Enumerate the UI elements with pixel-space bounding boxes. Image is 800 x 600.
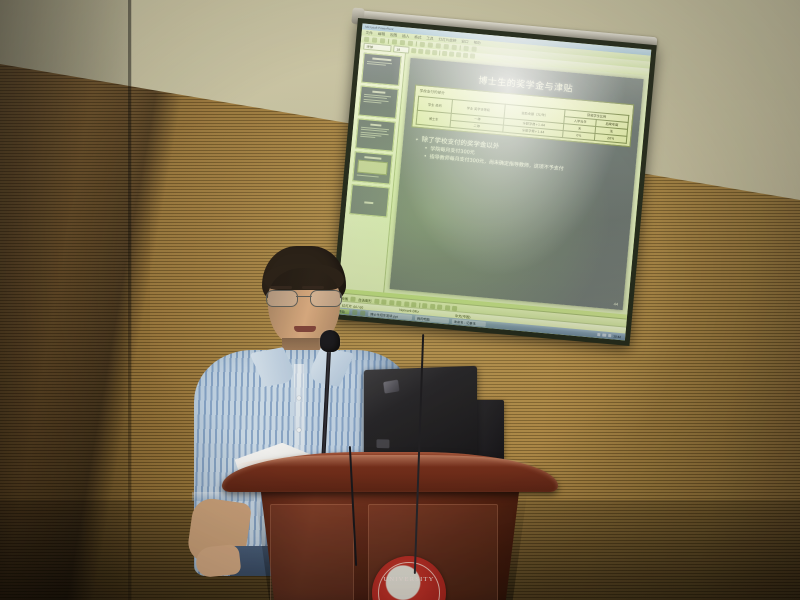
bold-icon[interactable] — [411, 48, 416, 53]
shadow-icon[interactable] — [432, 50, 437, 55]
photo-scene: Microsoft PowerPoint 文件 编辑 视图 插入 格式 工具 幻… — [0, 0, 800, 600]
lens-left — [266, 290, 298, 307]
eyebrow-left — [270, 286, 292, 289]
preview-icon[interactable] — [400, 40, 405, 45]
shirt-button — [297, 428, 301, 432]
align-center-icon[interactable] — [449, 51, 454, 56]
bullets-icon[interactable] — [463, 53, 468, 58]
slide-thumbnail[interactable] — [361, 53, 402, 86]
slide-number: 44 — [613, 301, 618, 306]
laptop-logo — [383, 380, 399, 394]
toolbar-separator — [459, 45, 460, 50]
taskbar-clock: 10:42 — [613, 334, 621, 339]
menu-format[interactable]: 格式 — [414, 35, 422, 41]
slide-thumbnail-current[interactable] — [352, 151, 393, 184]
table-cell-first-year: 0% — [563, 131, 595, 141]
network-icon[interactable] — [602, 333, 606, 337]
new-icon[interactable] — [364, 37, 369, 42]
insert-table-icon[interactable] — [463, 46, 468, 51]
copy-icon[interactable] — [428, 42, 433, 47]
taskbar-item-notepad[interactable]: 未命名 - 记事本 — [452, 319, 486, 327]
eyebrow-right — [302, 286, 324, 289]
underline-icon[interactable] — [425, 49, 430, 54]
align-right-icon[interactable] — [456, 52, 461, 57]
cut-icon[interactable] — [420, 42, 425, 47]
slide-thumbnail[interactable] — [349, 184, 390, 217]
menu-insert[interactable]: 插入 — [402, 34, 410, 40]
align-left-icon[interactable] — [442, 51, 447, 56]
toolbar-separator — [439, 51, 440, 56]
insert-chart-icon[interactable] — [471, 46, 476, 51]
italic-icon[interactable] — [418, 49, 423, 54]
menu-edit[interactable]: 编辑 — [378, 31, 386, 37]
lectern-top-gloss — [236, 455, 536, 467]
menu-view[interactable]: 视图 — [390, 32, 398, 38]
spellcheck-icon[interactable] — [408, 41, 413, 46]
paste-icon[interactable] — [436, 43, 441, 48]
volume-icon[interactable] — [597, 333, 601, 337]
current-slide: 博士生的奖学金与津贴 学校支付的部分 学生 类别 学业 奖学金等级 奖助金额（万… — [390, 58, 644, 310]
table-cell-later-years: 20% — [594, 133, 626, 143]
system-tray: 10:42 — [597, 332, 624, 338]
numbering-icon[interactable] — [470, 53, 475, 58]
save-icon[interactable] — [380, 38, 385, 43]
lectern-panel-left — [270, 504, 354, 600]
shirt-button — [297, 396, 301, 400]
eyeglasses — [266, 290, 342, 305]
toolbar-separator — [416, 41, 417, 46]
menu-file[interactable]: 文件 — [365, 30, 373, 36]
menu-tools[interactable]: 工具 — [426, 36, 434, 42]
wooden-lectern: UNIVERSITY — [222, 452, 558, 600]
laptop-badge — [376, 439, 389, 448]
microphone-head — [320, 330, 340, 352]
toolbar-separator — [388, 39, 389, 44]
menu-window[interactable]: 窗口 — [461, 39, 469, 45]
lens-right — [310, 290, 342, 307]
input-method-icon[interactable] — [608, 334, 612, 338]
open-icon[interactable] — [372, 37, 377, 42]
table-cell-student-type: 博士生 — [416, 110, 451, 127]
slide-editing-pane[interactable]: 博士生的奖学金与津贴 学校支付的部分 学生 类别 学业 奖学金等级 奖助金额（万… — [384, 53, 649, 314]
slide-thumbnail[interactable] — [358, 85, 399, 118]
seal-text: UNIVERSITY — [372, 576, 446, 583]
menu-help[interactable]: 帮助 — [473, 40, 481, 46]
slide-thumbnail[interactable] — [355, 118, 396, 151]
print-icon[interactable] — [392, 39, 397, 44]
undo-icon[interactable] — [444, 44, 449, 49]
redo-icon[interactable] — [452, 45, 457, 50]
